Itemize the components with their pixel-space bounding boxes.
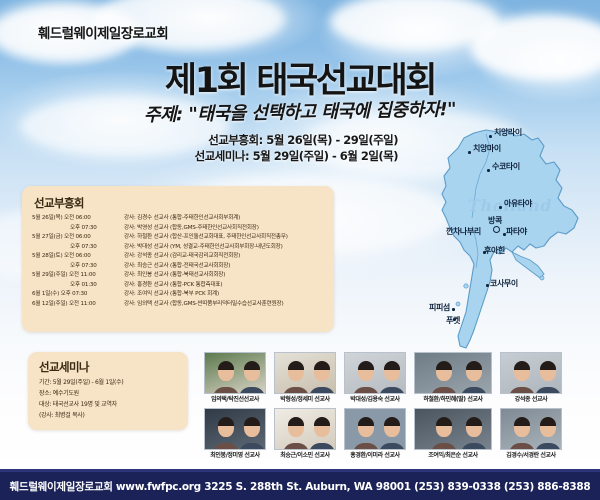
- map-city-kanchanaburi: 깐차나부리: [446, 226, 481, 237]
- map-city-phuket: 푸켓: [446, 315, 460, 326]
- missionary-photo-cell: 강석종 선교사: [500, 352, 562, 405]
- seminar-detail-line: 기간: 5월 29일(주일) - 6월 1일(수): [39, 377, 123, 388]
- missionary-photo-cell: 최인봉/정미영 선교사: [204, 408, 266, 461]
- map-city-pattaya: 파타야: [506, 226, 527, 237]
- footer-contact-text: 훼드럴웨이제일장로교회 www.fwfpc.org 3225 S. 288th …: [10, 479, 591, 494]
- schedule-time: 5월 29일(주일) 오전 11:00: [32, 271, 124, 281]
- revival-schedule-row: 오후 07:30강사: 박영성 선교사 (합동,GMS-주태한인선교사회직전회장…: [32, 224, 328, 234]
- map-dot: [468, 151, 471, 154]
- missionary-photo: [500, 352, 562, 394]
- map-city-sukhothai: 수코타이: [492, 161, 520, 172]
- missionary-photo-cell: 임의택/탁진선선교사: [204, 352, 266, 405]
- footer-bar: 훼드럴웨이제일장로교회 www.fwfpc.org 3225 S. 288th …: [0, 472, 600, 500]
- revival-schedule-row: 5월 26일(목) 오전 06:00강사: 김경수 선교사 (통합-주태한인선교…: [32, 214, 328, 224]
- missionary-photo: [274, 408, 336, 450]
- schedule-speaker: 강사: 박영성 선교사 (합동,GMS-주태한인선교사회직전회장): [124, 224, 328, 234]
- revival-schedule-row: 오후 07:30강사: 최승근 선교사 (통합-전태국선교사회회장): [32, 262, 328, 272]
- revival-schedule-row: 6월 12일(주일) 오전 11:00강사: 임외택 선교사 (합동,GMS-싼…: [32, 300, 328, 310]
- schedule-time: 오후 07:30: [32, 262, 124, 272]
- thailand-map: Thailand 치앙라이 치앙마이 수코타이 아유타야 방콕 깐차나부리 파타…: [420, 118, 600, 356]
- schedule-time: 오후 07:30: [32, 243, 124, 253]
- missionary-caption: 강석종 선교사: [515, 395, 547, 405]
- schedule-time: 5월 26일(목) 오전 06:00: [32, 214, 124, 224]
- schedule-time: 오후 07:30: [32, 224, 124, 234]
- missionary-caption: 임의택/탁진선선교사: [211, 395, 259, 405]
- missionary-caption: 최승근/이소민 선교사: [280, 451, 330, 461]
- missionary-photo: [204, 352, 266, 394]
- schedule-speaker: 강사: 박대성 선교사 (YM, 성결교-주태한인선교사회부회장-내년도회장): [124, 243, 328, 253]
- schedule-speaker: 강사: 하철환 선교사 (합산-프인돌선교회대표, 주태한인선교사회직전총무): [124, 233, 328, 243]
- map-dot: [452, 308, 455, 311]
- schedule-time: 오후 01:30: [32, 281, 124, 291]
- date-seminar: 선교세미나: 5월 29일(주일) - 6월 2일(목): [0, 148, 398, 164]
- missionary-photo: [274, 352, 336, 394]
- map-city-huahin: 후아힌: [484, 245, 505, 256]
- map-city-phiphi: 피피섬: [429, 302, 450, 313]
- missionary-photo: [414, 408, 492, 450]
- missionary-caption: 김경수/서경란 선교사: [506, 451, 556, 461]
- missionary-photo-cell: 조여익/최은순 선교사: [414, 408, 492, 461]
- missionary-photo-cell: 김경수/서경란 선교사: [500, 408, 562, 461]
- map-city-chiangrai: 치앙라이: [494, 127, 522, 138]
- seminar-detail-list: 기간: 5월 29일(주일) - 6월 1일(수)장소: 예수기도원대상: 태국…: [39, 377, 123, 421]
- revival-schedule-row: 오후 07:30강사: 박대성 선교사 (YM, 성결교-주태한인선교사회부회장…: [32, 243, 328, 253]
- bangkok-marker-icon: [493, 226, 500, 233]
- map-dot: [486, 284, 489, 287]
- missionary-photo: [204, 408, 266, 450]
- missionary-caption: 조여익/최은순 선교사: [428, 451, 478, 461]
- schedule-time: 6월 1일(수) 오후 07:30: [32, 290, 124, 300]
- map-dot: [487, 169, 490, 172]
- missionary-photo: [344, 408, 406, 450]
- schedule-speaker: 강사: 조여익 선교사 (통합-북부 PCK 회계): [124, 290, 328, 300]
- missionary-photo-cell: 하철환/하민혜(딸) 선교사: [414, 352, 492, 405]
- map-city-kosamui: 코사무이: [490, 278, 518, 289]
- missionary-photo-cell: 박형성/정세미 선교사: [274, 352, 336, 405]
- schedule-time: 5월 27일(금) 오전 06:00: [32, 233, 124, 243]
- schedule-speaker: 강사: 임외택 선교사 (합동,GMS-싼띠쭘부리덕터밀수습선교사훈련원장): [124, 300, 328, 310]
- church-name: 훼드럴웨이제일장로교회: [38, 22, 168, 42]
- map-dot: [489, 135, 492, 138]
- schedule-speaker: 강사: 강석종 선교사 (감리교-태국감리교회직전회장): [124, 252, 328, 262]
- event-dates: 선교부흥회: 5월 26일(목) - 29일(주일) 선교세미나: 5월 29일…: [0, 132, 398, 164]
- missionary-photo-cell: 최승근/이소민 선교사: [274, 408, 336, 461]
- schedule-speaker: 강사: 김경수 선교사 (통합-주태한인선교사회부회계): [124, 214, 328, 224]
- revival-schedule-box: 선교부흥회 5월 26일(목) 오전 06:00강사: 김경수 선교사 (통합-…: [22, 186, 334, 332]
- seminar-detail-line: (강사: 최병걸 목사): [39, 410, 123, 421]
- missionary-caption: 홍경환/이미라 선교사: [350, 451, 400, 461]
- photo-row: 최인봉/정미영 선교사최승근/이소민 선교사홍경환/이미라 선교사조여익/최은순…: [204, 408, 596, 461]
- revival-title: 선교부흥회: [34, 195, 84, 211]
- schedule-speaker: 강사: 최인봉 선교사 (통합-북태선교사회회장): [124, 271, 328, 281]
- missionary-photo: [414, 352, 492, 394]
- missionary-photo: [344, 352, 406, 394]
- poster-canvas: 훼드럴웨이제일장로교회 제1회 태국선교대회 주제: "태국을 선택하고 태국에…: [0, 0, 600, 500]
- missionary-caption: 최인봉/정미영 선교사: [210, 451, 260, 461]
- seminar-detail-line: 대상: 태국선교사 19명 및 교역자: [39, 399, 123, 410]
- map-dot: [499, 206, 502, 209]
- schedule-time: 5월 28일(토) 오전 06:00: [32, 252, 124, 262]
- missionary-caption: 박대성/김용숙 선교사: [350, 395, 400, 405]
- seminar-detail-line: 장소: 예수기도원: [39, 388, 123, 399]
- schedule-speaker: 강사: 최승근 선교사 (통합-전태국선교사회회장): [124, 262, 328, 272]
- seminar-info-box: 선교세미나 기간: 5월 29일(주일) - 6월 1일(수)장소: 예수기도원…: [28, 352, 188, 430]
- revival-schedule-row: 5월 29일(주일) 오전 11:00강사: 최인봉 선교사 (통합-북태선교사…: [32, 271, 328, 281]
- seminar-title: 선교세미나: [39, 359, 89, 375]
- missionary-photo-cell: 박대성/김용숙 선교사: [344, 352, 406, 405]
- missionary-photo: [500, 408, 562, 450]
- revival-schedule-row: 5월 28일(토) 오전 06:00강사: 강석종 선교사 (감리교-태국감리교…: [32, 252, 328, 262]
- revival-schedule-row: 5월 27일(금) 오전 06:00강사: 하철환 선교사 (합산-프인돌선교회…: [32, 233, 328, 243]
- map-city-chiangmai: 치앙마이: [473, 143, 501, 154]
- map-city-ayutthaya: 아유타야: [504, 198, 532, 209]
- schedule-time: 6월 12일(주일) 오전 11:00: [32, 300, 124, 310]
- missionary-caption: 박형성/정세미 선교사: [280, 395, 330, 405]
- map-city-bangkok: 방콕: [488, 215, 502, 226]
- revival-schedule-list: 5월 26일(목) 오전 06:00강사: 김경수 선교사 (통합-주태한인선교…: [32, 214, 328, 309]
- revival-schedule-row: 오후 01:30강사: 홍경환 선교사 (통합-PCK 통합측대표): [32, 281, 328, 291]
- photo-row: 임의택/탁진선선교사박형성/정세미 선교사박대성/김용숙 선교사하철환/하민혜(…: [204, 352, 596, 405]
- date-revival: 선교부흥회: 5월 26일(목) - 29일(주일): [0, 132, 398, 148]
- missionary-photo-grid: 임의택/탁진선선교사박형성/정세미 선교사박대성/김용숙 선교사하철환/하민혜(…: [204, 352, 596, 464]
- missionary-caption: 하철환/하민혜(딸) 선교사: [423, 395, 482, 405]
- schedule-speaker: 강사: 홍경환 선교사 (통합-PCK 통합측대표): [124, 281, 328, 291]
- missionary-photo-cell: 홍경환/이미라 선교사: [344, 408, 406, 461]
- revival-schedule-row: 6월 1일(수) 오후 07:30강사: 조여익 선교사 (통합-북부 PCK …: [32, 290, 328, 300]
